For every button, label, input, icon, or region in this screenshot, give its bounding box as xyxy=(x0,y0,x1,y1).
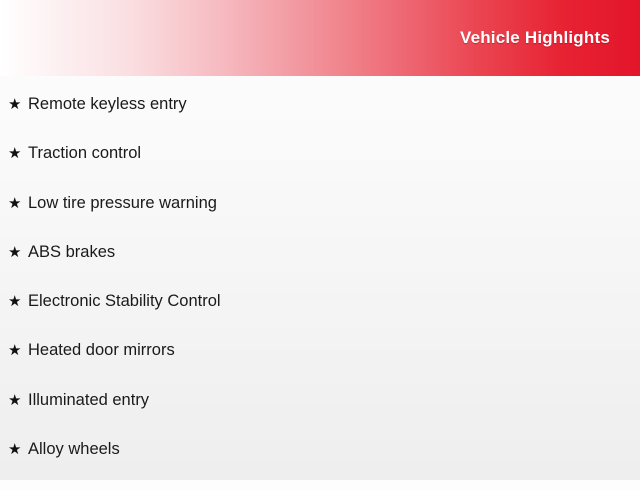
vehicle-highlights-list: ★ Remote keyless entry ★ Traction contro… xyxy=(0,76,640,490)
list-item-label: Low tire pressure warning xyxy=(28,195,640,212)
star-bullet-icon: ★ xyxy=(8,146,28,161)
list-item-label: Remote keyless entry xyxy=(28,96,640,113)
list-item-label: Alloy wheels xyxy=(28,441,640,458)
list-item-label: Traction control xyxy=(28,145,640,162)
star-bullet-icon: ★ xyxy=(8,97,28,112)
list-item-label: ABS brakes xyxy=(28,244,640,261)
star-bullet-icon: ★ xyxy=(8,196,28,211)
list-item: ★ Heated door mirrors xyxy=(0,342,640,391)
header-band: Vehicle Highlights xyxy=(0,0,640,76)
star-bullet-icon: ★ xyxy=(8,245,28,260)
list-item: ★ Remote keyless entry xyxy=(0,96,640,145)
list-item-label: Electronic Stability Control xyxy=(28,293,640,310)
star-bullet-icon: ★ xyxy=(8,294,28,309)
star-bullet-icon: ★ xyxy=(8,343,28,358)
list-item-label: Heated door mirrors xyxy=(28,342,640,359)
star-bullet-icon: ★ xyxy=(8,393,28,408)
list-item: ★ Low tire pressure warning xyxy=(0,195,640,244)
list-item: ★ Alloy wheels xyxy=(0,441,640,490)
vehicle-highlights-slide: Vehicle Highlights ★ Remote keyless entr… xyxy=(0,0,640,480)
list-item-label: Illuminated entry xyxy=(28,392,640,409)
list-item: ★ Traction control xyxy=(0,145,640,194)
star-bullet-icon: ★ xyxy=(8,442,28,457)
list-item: ★ Illuminated entry xyxy=(0,392,640,441)
list-item: ★ ABS brakes xyxy=(0,244,640,293)
page-title: Vehicle Highlights xyxy=(460,28,610,48)
list-item: ★ Electronic Stability Control xyxy=(0,293,640,342)
